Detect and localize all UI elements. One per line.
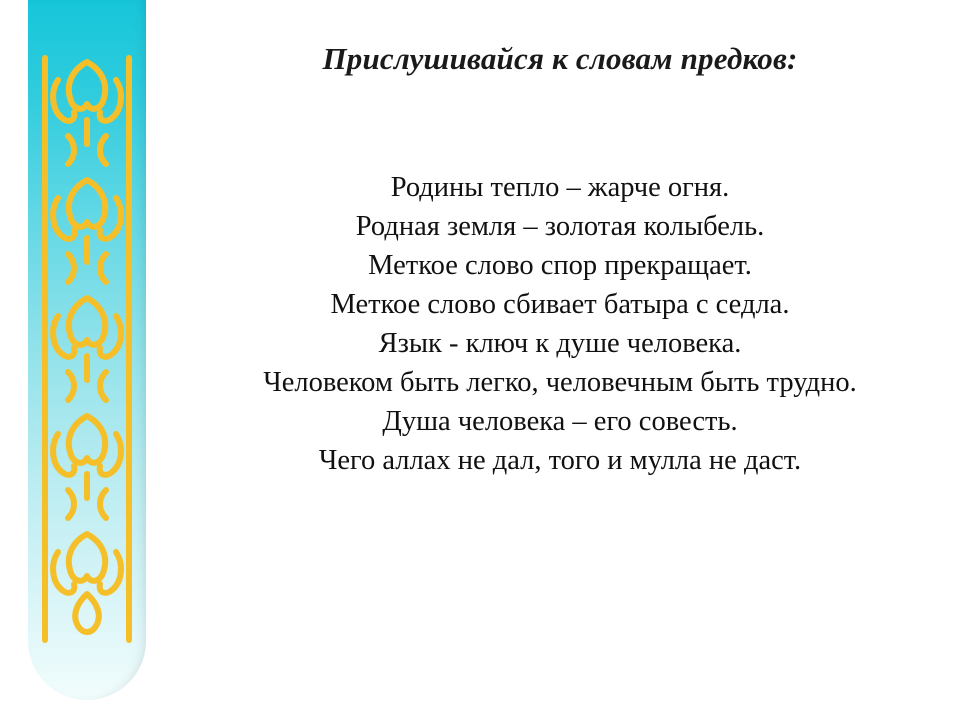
- kazakh-ornament-icon: [28, 40, 146, 660]
- proverb-line: Душа человека – его совесть.: [180, 402, 940, 441]
- proverb-line: Чего аллах не дал, того и мулла не даст.: [180, 441, 940, 480]
- proverb-line: Человеком быть легко, человечным быть тр…: [180, 363, 940, 402]
- proverb-list: Родины тепло – жарче огня. Родная земля …: [180, 168, 940, 480]
- proverb-line: Меткое слово сбивает батыра с седла.: [180, 285, 940, 324]
- proverb-line: Родины тепло – жарче огня.: [180, 168, 940, 207]
- proverb-line: Язык - ключ к душе человека.: [180, 324, 940, 363]
- proverb-line: Меткое слово спор прекращает.: [180, 246, 940, 285]
- slide-canvas: Прислушивайся к словам предков: Родины т…: [0, 0, 960, 720]
- slide-content: Прислушивайся к словам предков: Родины т…: [180, 0, 940, 720]
- slide-title: Прислушивайся к словам предков:: [180, 40, 940, 78]
- proverb-line: Родная земля – золотая колыбель.: [180, 207, 940, 246]
